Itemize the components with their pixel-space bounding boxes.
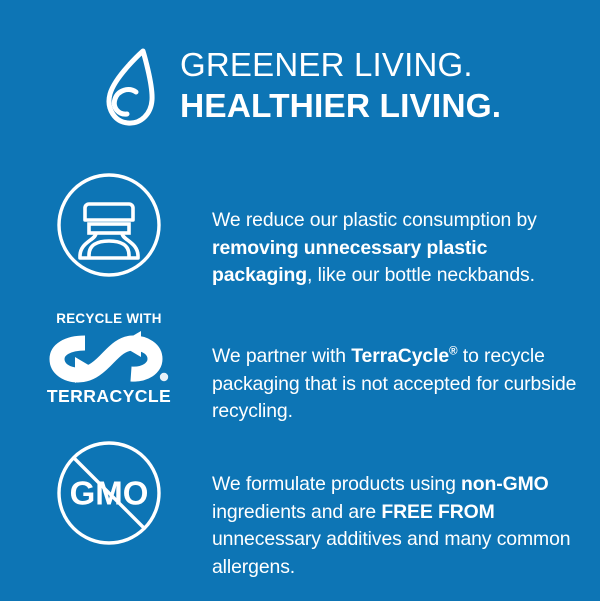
text-seg: ingredients and are [212,501,381,523]
text-seg-bold: non-GMO [461,473,549,495]
feature-row-non-gmo: GMO We formulate products using non-GMO … [0,440,600,601]
registered-mark: ® [449,345,457,358]
icon-column: RECYCLE WITH TERRACYCLE [0,310,212,406]
headline-line-2: HEALTHIER LIVING. [180,87,501,127]
feature-text-terracycle: We partner with TerraCycle® to recycle p… [212,343,586,426]
text-seg-bold: TerraCycle [351,345,449,367]
text-seg-bold: FREE FROM [381,501,494,523]
no-gmo-icon: GMO [56,440,162,546]
terracycle-logo: RECYCLE WITH TERRACYCLE [43,310,175,406]
text-seg: unnecessary additives and many common al… [212,528,570,578]
icon-column: GMO [0,440,212,546]
headline-block: GREENER LIVING. HEALTHIER LIVING. [180,46,501,126]
headline-line-1: GREENER LIVING. [180,46,501,85]
header-banner: GREENER LIVING. HEALTHIER LIVING. [0,36,600,136]
text-seg: We partner with [212,345,351,367]
text-seg: We reduce our plastic consumption by [212,209,537,231]
bottle-in-circle-icon [56,172,162,278]
terracycle-top-label: RECYCLE WITH [56,312,162,325]
feature-text-plastic-reduction: We reduce our plastic consumption by rem… [212,207,586,290]
feature-text-non-gmo: We formulate products using non-GMO ingr… [212,471,586,581]
gmo-text: GMO [70,475,149,512]
text-seg: We formulate products using [212,473,461,495]
feature-row-terracycle: RECYCLE WITH TERRACYCLE We partner with … [0,310,600,445]
leaf-icon [96,44,172,130]
text-column: We partner with TerraCycle® to recycle p… [212,310,600,445]
text-column: We reduce our plastic consumption by rem… [212,172,600,309]
feature-row-plastic-reduction: We reduce our plastic consumption by rem… [0,172,600,309]
terracycle-bottom-label: TERRACYCLE [47,388,171,406]
icon-column [0,172,212,278]
text-column: We formulate products using non-GMO ingr… [212,440,600,601]
infinity-arrows-icon [45,329,173,385]
text-seg: , like our bottle neckbands. [307,264,535,286]
